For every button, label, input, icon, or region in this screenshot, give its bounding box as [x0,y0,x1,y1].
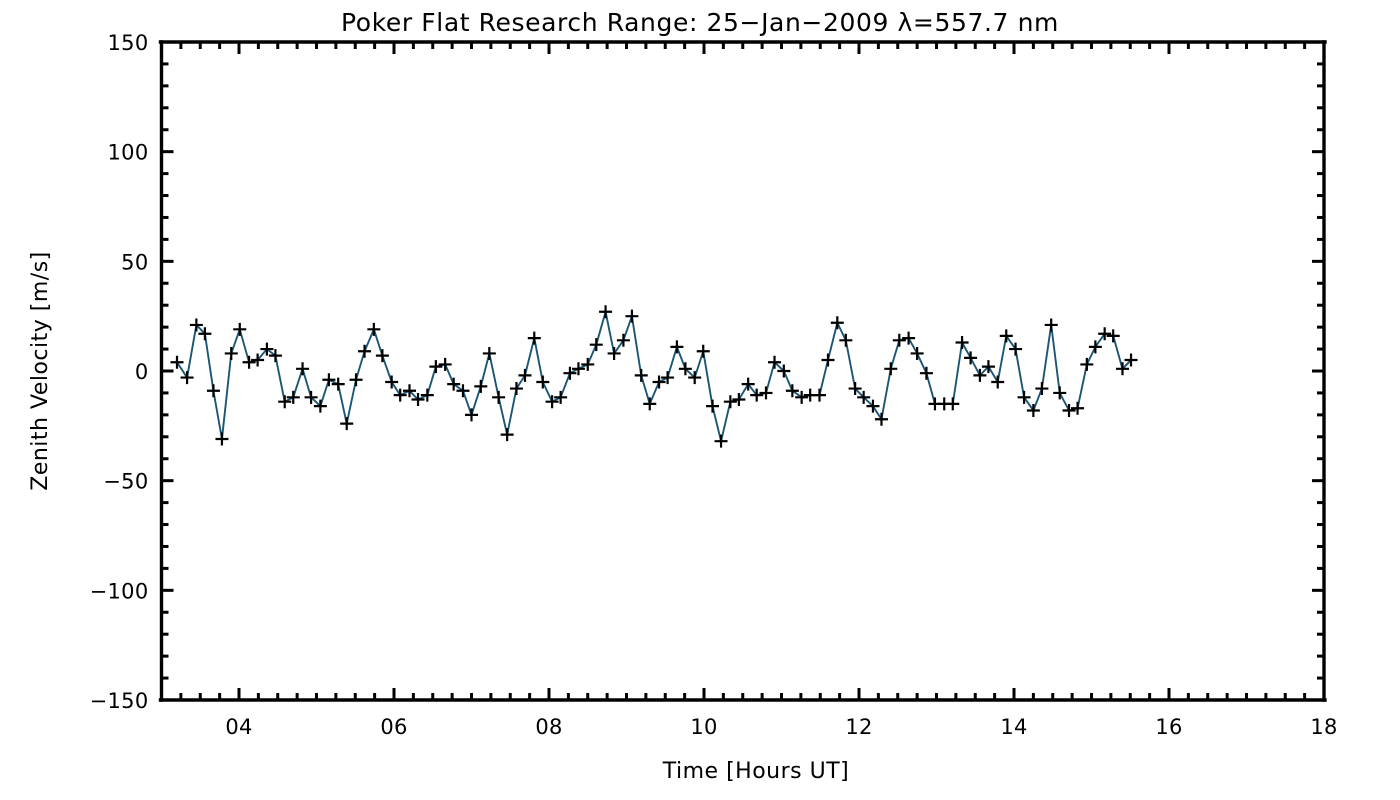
data-point-marker [1071,402,1084,415]
data-point-marker [839,334,852,347]
data-point-marker [474,380,487,393]
data-point-marker [340,417,353,430]
data-series-line [177,312,1131,441]
y-tick-label: −100 [90,579,149,603]
data-point-marker [608,347,621,360]
data-point-marker [599,305,612,318]
data-point-marker [1009,343,1022,356]
y-axis-ticks [162,42,1325,700]
data-point-marker [1080,358,1093,371]
x-tick-label: 04 [225,715,252,739]
data-point-marker [1089,340,1102,353]
data-point-marker [795,391,808,404]
data-point-marker [991,375,1004,388]
data-series-markers [171,305,1138,447]
data-point-marker [670,340,683,353]
x-tick-label: 16 [1155,715,1182,739]
x-axis-title: Time [Hours UT] [662,759,850,784]
data-point-marker [813,389,826,402]
data-point-marker [1000,329,1013,342]
data-point-marker [956,336,969,349]
data-point-marker [875,413,888,426]
data-point-marker [724,395,737,408]
data-point-marker [715,435,728,448]
data-point-marker [1107,329,1120,342]
data-point-marker [296,362,309,375]
data-point-marker [528,332,541,345]
data-point-marker [358,345,371,358]
data-point-marker [893,334,906,347]
data-point-marker [1053,386,1066,399]
data-point-marker [447,378,460,391]
y-tick-label: −50 [103,470,148,494]
data-point-marker [911,347,924,360]
x-axis-ticks [162,42,1325,700]
data-point-marker [697,345,710,358]
data-point-marker [439,358,452,371]
x-tick-label: 06 [380,715,407,739]
y-axis-title: Zenith Velocity [m/s] [28,251,53,491]
zenith-velocity-plot: Poker Flat Research Range: 25−Jan−2009 λ… [0,0,1400,800]
data-point-marker [884,362,897,375]
data-point-marker [643,397,656,410]
data-point-marker [1018,391,1031,404]
y-tick-label: 0 [135,360,149,384]
data-point-marker [1027,404,1040,417]
data-point-marker [1045,318,1058,331]
data-point-marker [760,386,773,399]
x-tick-label: 18 [1310,715,1337,739]
data-point-marker [706,400,719,413]
data-point-marker [243,356,256,369]
data-point-marker [1063,404,1076,417]
data-point-marker [456,384,469,397]
y-tick-label: −150 [90,689,149,713]
x-tick-label: 12 [845,715,872,739]
data-point-marker [635,369,648,382]
axis-frame [161,42,1326,700]
data-point-marker [350,373,363,386]
data-point-marker [483,347,496,360]
data-point-marker [518,369,531,382]
data-point-marker [233,323,246,336]
data-point-marker [215,432,228,445]
data-point-marker [625,310,638,323]
data-point-marker [207,384,220,397]
data-point-marker [920,367,933,380]
data-point-marker [465,408,478,421]
data-point-marker [536,375,549,388]
data-point-marker [367,323,380,336]
data-point-marker [946,397,959,410]
data-point-marker [385,375,398,388]
data-point-marker [429,360,442,373]
data-point-marker [590,338,603,351]
data-point-marker [171,356,184,369]
data-point-marker [786,384,799,397]
data-point-marker [617,334,630,347]
y-tick-label: 150 [108,31,149,55]
y-tick-label: 100 [108,141,149,165]
data-point-marker [1098,327,1111,340]
data-point-marker [181,371,194,384]
data-point-marker [964,351,977,364]
figure-canvas: Poker Flat Research Range: 25−Jan−2009 λ… [0,0,1400,800]
page-title: Poker Flat Research Range: 25−Jan−2009 λ… [341,8,1059,37]
x-tick-label: 14 [1000,715,1027,739]
data-point-marker [822,354,835,367]
data-point-marker [225,347,238,360]
data-point-marker [732,393,745,406]
x-axis-tick-labels: 0406081012141618 [225,715,1337,739]
data-point-marker [1035,382,1048,395]
data-point-marker [492,391,505,404]
y-tick-label: 50 [121,250,148,274]
y-axis-tick-labels: −150−100−50050100150 [90,31,149,713]
data-point-marker [501,428,514,441]
data-point-marker [510,382,523,395]
data-point-marker [902,332,915,345]
data-point-marker [831,316,844,329]
x-tick-label: 10 [690,715,717,739]
x-tick-label: 08 [535,715,562,739]
data-point-marker [376,349,389,362]
